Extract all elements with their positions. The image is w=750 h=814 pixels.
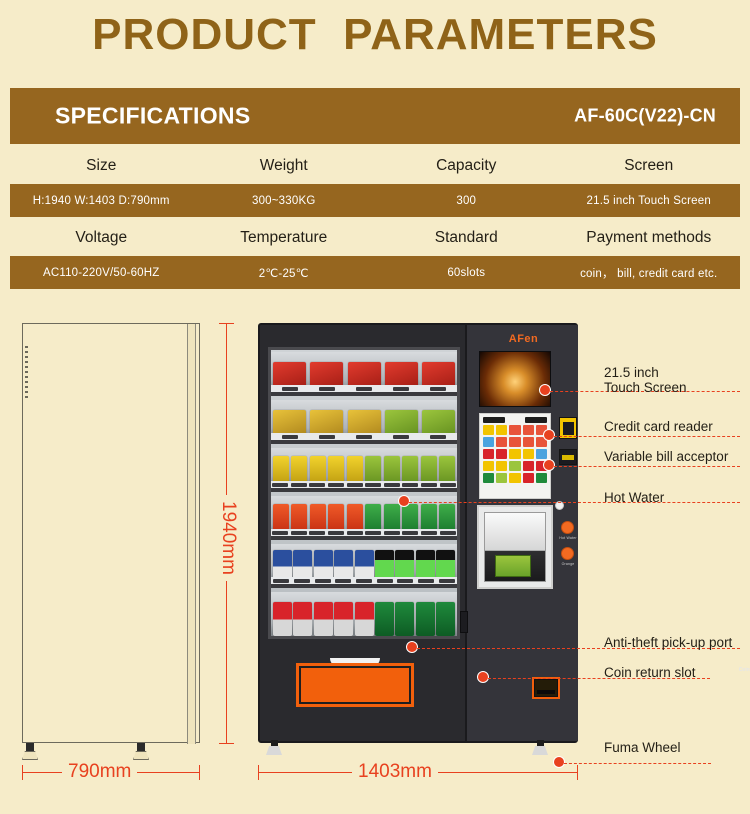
hot-water-button[interactable]	[561, 521, 574, 534]
product-selection-keypad[interactable]	[479, 413, 551, 499]
fuma-wheel-icon	[266, 740, 282, 755]
table-header-row: Size Weight Capacity Screen	[10, 148, 740, 184]
table-value-row: H:1940 W:1403 D:790mm 300~330KG 300 21.5…	[10, 184, 740, 217]
product-shelf	[271, 352, 457, 396]
dimension-tick	[219, 323, 234, 324]
product-shelf	[271, 592, 457, 636]
hot-water-button-label: Hot Water	[553, 536, 583, 540]
callout-dot	[398, 495, 410, 507]
brand-logo: AFen	[467, 333, 580, 345]
model-number: AF-60C(V22)-CN	[574, 106, 716, 127]
dimension-tick	[577, 765, 578, 780]
variable-bill-acceptor[interactable]	[559, 449, 577, 465]
product-diagram: AFen Hot Water Orange	[0, 305, 750, 814]
product-shelf	[271, 544, 457, 588]
noodle-cup-icon	[495, 555, 531, 577]
height-dimension-label: 1940mm	[217, 495, 239, 581]
hot-water-compartment[interactable]	[477, 505, 553, 589]
table-cell: 60slots	[375, 256, 558, 289]
column-header: Standard	[375, 220, 558, 256]
table-cell: 2℃-25℃	[193, 256, 376, 289]
callout-line	[404, 502, 740, 503]
table-cell: 300~330KG	[193, 184, 376, 217]
specifications-table: Size Weight Capacity Screen H:1940 W:140…	[10, 148, 740, 289]
side-view-outline	[22, 323, 200, 743]
orange-button[interactable]	[561, 547, 574, 560]
glass-display-window	[268, 347, 460, 639]
callout-label-hot-water: Hot Water	[604, 490, 664, 505]
dimension-tick	[219, 743, 234, 744]
column-header: Voltage	[10, 220, 193, 256]
width-dimension-label: 1403mm	[352, 761, 438, 783]
callout-label-credit-card-reader: Credit card reader	[604, 419, 713, 434]
anti-theft-pickup-port[interactable]	[296, 663, 414, 707]
callout-line	[559, 763, 711, 764]
table-cell: 21.5 inch Touch Screen	[558, 184, 741, 217]
column-header: Temperature	[193, 220, 376, 256]
coin-return-slot[interactable]	[532, 677, 560, 699]
callout-dot	[477, 671, 489, 683]
callout-label-touch-screen: 21.5 inch Touch Screen	[604, 365, 687, 395]
product-shelf	[271, 448, 457, 492]
dimension-tick	[22, 765, 23, 780]
specifications-title: SPECIFICATIONS	[55, 103, 250, 130]
product-shelf	[271, 400, 457, 444]
column-header: Payment methods	[558, 220, 741, 256]
table-cell: AC110-220V/50-60HZ	[10, 256, 193, 289]
callout-dot	[543, 459, 555, 471]
dimension-tick	[258, 765, 259, 780]
table-cell: coin， bill, credit card etc.	[558, 256, 741, 289]
dimension-tick	[199, 765, 200, 780]
column-header: Weight	[193, 148, 376, 184]
fuma-wheel-icon	[532, 740, 548, 755]
callout-label-bill-acceptor: Variable bill acceptor	[604, 449, 728, 464]
specifications-header-bar: SPECIFICATIONS AF-60C(V22)-CN	[10, 88, 740, 144]
table-cell: H:1940 W:1403 D:790mm	[10, 184, 193, 217]
vending-machine-front-view: AFen Hot Water Orange	[258, 323, 578, 743]
coin-return-label: Coin Return	[729, 667, 750, 673]
callout-label-fuma-wheel: Fuma Wheel	[604, 740, 681, 755]
orange-button-label: Orange	[553, 562, 583, 566]
table-cell: 300	[375, 184, 558, 217]
table-header-row: Voltage Temperature Standard Payment met…	[10, 220, 740, 256]
side-door-edge	[187, 324, 196, 744]
page-title: PRODUCT PARAMETERS	[0, 10, 750, 60]
callout-label-pickup-port: Anti-theft pick-up port	[604, 635, 732, 650]
column-header: Capacity	[375, 148, 558, 184]
table-value-row: AC110-220V/50-60HZ 2℃-25℃ 60slots coin， …	[10, 256, 740, 289]
leveling-foot-icon	[133, 743, 149, 760]
callout-line	[549, 436, 740, 437]
callout-label-coin-return: Coin return slot	[604, 665, 696, 680]
callout-dot	[543, 429, 555, 441]
depth-dimension-label: 790mm	[62, 761, 137, 783]
callout-dot	[406, 641, 418, 653]
leveling-foot-icon	[22, 743, 38, 760]
callout-line	[549, 466, 740, 467]
hinge-icon	[25, 346, 28, 401]
callout-dot	[539, 384, 551, 396]
touch-screen[interactable]	[479, 351, 551, 407]
callout-dot	[553, 756, 565, 768]
column-header: Screen	[558, 148, 741, 184]
column-header: Size	[10, 148, 193, 184]
card-slot[interactable]	[460, 611, 468, 633]
